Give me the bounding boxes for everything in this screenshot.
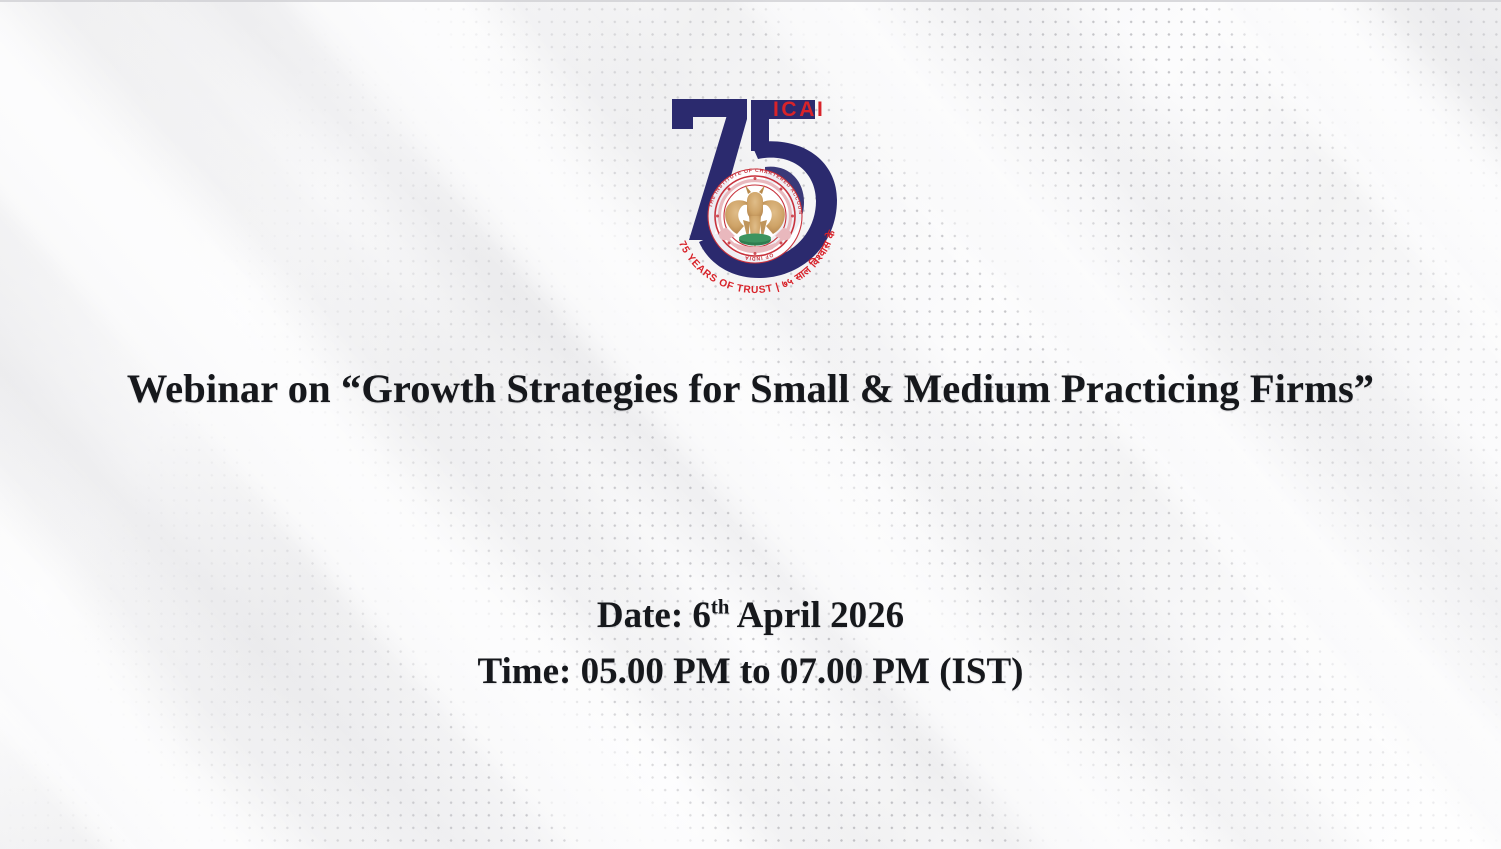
event-time-line: Time: 05.00 PM to 07.00 PM (IST) — [0, 644, 1501, 700]
svg-text:ICAI: ICAI — [773, 98, 825, 121]
event-date-ordinal: th — [711, 597, 729, 619]
event-details: Date: 6th April 2026 Time: 05.00 PM to 0… — [0, 588, 1501, 700]
slide-content: ICAI — [0, 0, 1501, 849]
webinar-title-slide: ICAI — [0, 0, 1501, 849]
icai-75-years-logo: ICAI — [655, 88, 855, 296]
logo-icai-text: ICAI — [773, 98, 825, 121]
event-date-day: 6 — [692, 595, 711, 636]
event-date-label: Date: — [597, 595, 683, 636]
webinar-title: Webinar on “Growth Strategies for Small … — [0, 365, 1501, 412]
event-date-rest: April 2026 — [737, 595, 905, 636]
event-date-line: Date: 6th April 2026 — [0, 588, 1501, 644]
